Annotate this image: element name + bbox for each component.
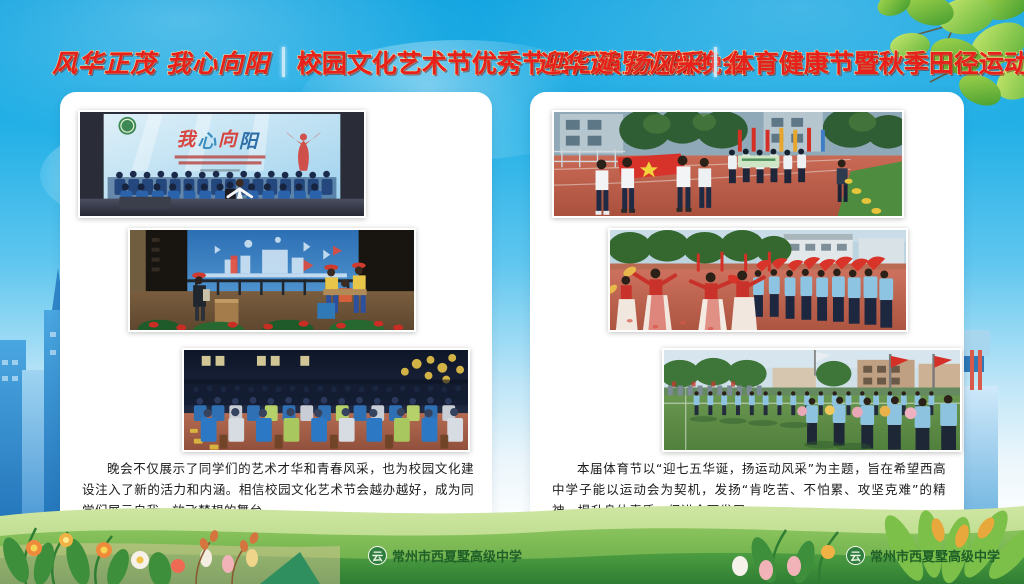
poster-root: 风华正茂 我心向阳 校园文化艺术节优秀节目汇演暨迎新晚会 迎华诞 扬风采 体育健… (0, 0, 1024, 584)
right-header-title-group: 迎华诞 扬风采 体育健康节暨秋季田径运动会 (536, 44, 1024, 80)
school-name-right: 常州市西夏墅高级中学 (870, 546, 1000, 565)
svg-text:心: 心 (197, 132, 217, 153)
svg-text:我: 我 (177, 130, 198, 151)
title-divider (282, 47, 285, 77)
left-caption-text: 晚会不仅展示了同学们的艺术才华和青春风采，也为校园文化建设注入了新的活力和内涵。… (82, 458, 474, 521)
left-slogan: 风华正茂 我心向阳 (52, 44, 270, 80)
audience-photo (182, 348, 470, 452)
footer-logo-right: 云 常州市西夏墅高级中学 (846, 546, 1000, 565)
school-badge-icon: 云 (846, 546, 865, 565)
fan-dance-photo (608, 228, 908, 332)
footer-logo-left: 云 常州市西夏墅高级中学 (368, 546, 522, 565)
school-badge-icon: 云 (368, 546, 387, 565)
svg-text:阳: 阳 (239, 132, 261, 153)
left-caption: 晚会不仅展示了同学们的艺术才华和青春风采，也为校园文化建设注入了新的活力和内涵。… (82, 458, 474, 521)
stage-drama-photo (128, 228, 416, 332)
right-slogan: 迎华诞 扬风采 (536, 44, 702, 80)
field-formation-photo (662, 348, 962, 452)
stage-chorus-photo: 我 心 向 阳 (78, 110, 366, 218)
right-caption-text: 本届体育节以“迎七五华诞，扬运动风采”为主题，旨在希望西高中学子能以运动会为契机… (552, 458, 946, 521)
school-name-left: 常州市西夏墅高级中学 (392, 546, 522, 565)
right-subtitle: 体育健康节暨秋季田径运动会 (729, 44, 1024, 80)
right-caption: 本届体育节以“迎七五华诞，扬运动风采”为主题，旨在希望西高中学子能以运动会为契机… (552, 458, 946, 521)
title-divider (714, 47, 717, 77)
svg-text:向: 向 (218, 129, 239, 151)
flag-parade-photo (552, 110, 904, 218)
